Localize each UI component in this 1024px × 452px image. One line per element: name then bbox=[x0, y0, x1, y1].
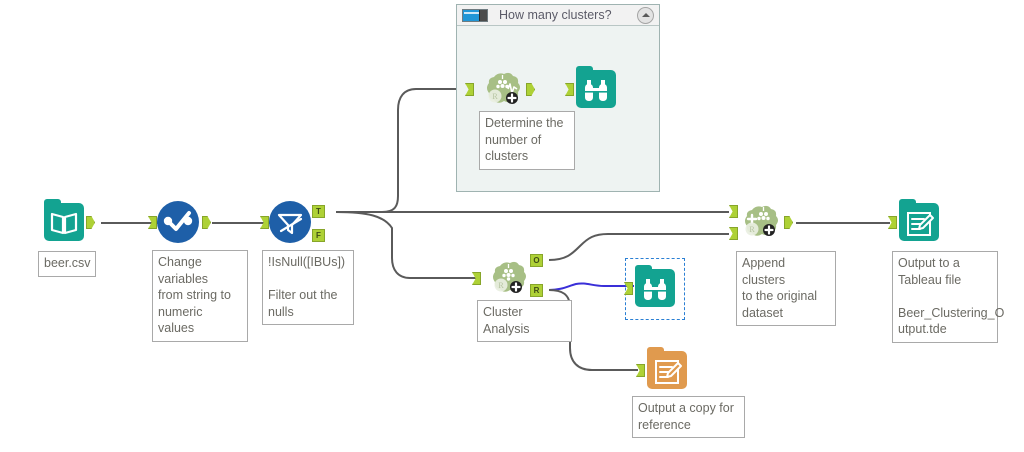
annotation-output-copy: Output a copy for reference bbox=[632, 396, 745, 438]
tool-append-clusters[interactable]: R bbox=[738, 200, 782, 244]
chevron-up-icon[interactable] bbox=[637, 7, 654, 24]
workflow-canvas[interactable]: How many clusters? beer.csv Change varia… bbox=[0, 0, 1024, 452]
input-anchor-data[interactable] bbox=[729, 205, 738, 218]
render-output-icon bbox=[899, 203, 939, 241]
input-anchor[interactable] bbox=[636, 364, 645, 377]
output-anchor[interactable] bbox=[86, 216, 95, 229]
tool-output-tableau[interactable] bbox=[897, 200, 941, 244]
output-anchor[interactable] bbox=[784, 216, 793, 229]
input-anchor[interactable] bbox=[888, 216, 897, 229]
select-check-circle-icon bbox=[156, 200, 200, 244]
browse-binoculars-icon bbox=[635, 269, 675, 307]
svg-text:R: R bbox=[749, 225, 755, 234]
tool-browse-cluster-count[interactable] bbox=[574, 67, 618, 111]
input-anchor[interactable] bbox=[472, 272, 481, 285]
tool-browse-cluster-report[interactable] bbox=[633, 266, 677, 310]
tool-input-data[interactable] bbox=[42, 200, 86, 244]
output-anchor-object[interactable]: O bbox=[530, 254, 543, 267]
tool-container-header[interactable]: How many clusters? bbox=[457, 5, 659, 26]
browse-binoculars-icon bbox=[576, 70, 616, 108]
filter-funnel-circle-icon bbox=[268, 200, 312, 244]
r-tool-cloud-append-icon: R bbox=[738, 200, 782, 244]
tool-output-copy[interactable] bbox=[645, 348, 689, 392]
tool-determine-clusters[interactable]: R bbox=[480, 67, 524, 111]
annotation-input-data: beer.csv bbox=[38, 251, 96, 277]
annotation-cluster-analysis: Cluster Analysis bbox=[477, 300, 572, 342]
annotation-append-clusters: Append clusters to the original dataset bbox=[736, 251, 836, 326]
output-anchor[interactable] bbox=[202, 216, 211, 229]
output-anchor-false[interactable]: F bbox=[312, 229, 325, 242]
annotation-output-tableau: Output to a Tableau file Beer_Clustering… bbox=[892, 251, 998, 343]
annotation-filter: !IsNull([IBUs]) Filter out the nulls bbox=[262, 250, 354, 325]
svg-text:R: R bbox=[492, 92, 498, 101]
tool-cluster-analysis[interactable]: R O R bbox=[486, 256, 530, 300]
container-enable-toggle[interactable] bbox=[462, 9, 488, 22]
annotation-determine-clusters: Determine the number of clusters bbox=[479, 111, 575, 170]
output-anchor-report[interactable]: R bbox=[530, 284, 543, 297]
tool-select[interactable] bbox=[156, 200, 200, 244]
tool-filter[interactable]: T F bbox=[268, 200, 312, 244]
render-output-icon bbox=[647, 351, 687, 389]
annotation-select: Change variables from string to numeric … bbox=[152, 250, 248, 342]
tool-container-title: How many clusters? bbox=[499, 8, 637, 22]
output-anchor-true[interactable]: T bbox=[312, 205, 325, 218]
input-anchor-object[interactable] bbox=[729, 227, 738, 240]
input-data-book-icon bbox=[44, 203, 84, 241]
svg-text:R: R bbox=[498, 281, 504, 290]
r-tool-cloud-icon: R bbox=[480, 67, 524, 111]
r-tool-cloud-icon: R bbox=[486, 256, 530, 300]
